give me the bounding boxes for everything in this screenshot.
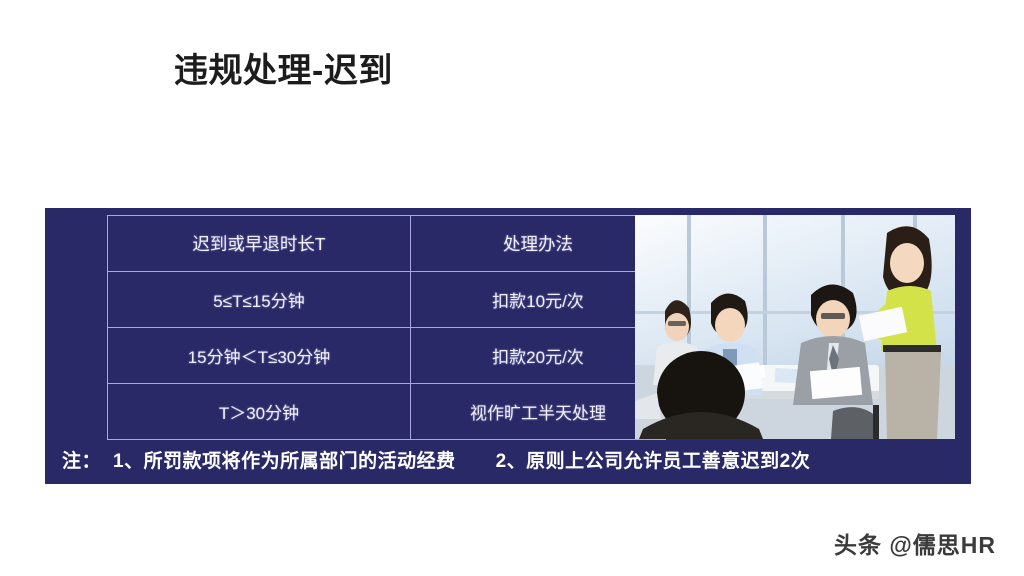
cell-action-3: 视作旷工半天处理 <box>411 384 666 440</box>
table-header-action: 处理办法 <box>411 216 666 272</box>
footer-note: 注：1、所罚款项将作为所属部门的活动经费2、原则上公司允许员工善意迟到2次 <box>62 446 962 473</box>
page-title: 违规处理-迟到 <box>174 50 393 93</box>
footer-note-item-1: 1、所罚款项将作为所属部门的活动经费 <box>113 451 456 472</box>
table-row: T＞30分钟 视作旷工半天处理 <box>108 384 666 440</box>
cell-action-2: 扣款20元/次 <box>411 328 666 384</box>
table-row: 5≤T≤15分钟 扣款10元/次 <box>108 272 666 328</box>
table-row: 15分钟＜T≤30分钟 扣款20元/次 <box>108 328 666 384</box>
cell-duration-1: 5≤T≤15分钟 <box>108 272 411 328</box>
content-panel: 迟到或早退时长T 处理办法 5≤T≤15分钟 扣款10元/次 15分钟＜T≤30… <box>45 208 971 484</box>
office-meeting-photo <box>635 215 955 439</box>
footer-note-label: 注： <box>62 451 101 472</box>
cell-duration-3: T＞30分钟 <box>108 384 411 440</box>
table-header-row: 迟到或早退时长T 处理办法 <box>108 216 666 272</box>
cell-duration-2: 15分钟＜T≤30分钟 <box>108 328 411 384</box>
footer-note-item-2: 2、原则上公司允许员工善意迟到2次 <box>496 451 811 472</box>
cell-action-1: 扣款10元/次 <box>411 272 666 328</box>
table-header-duration: 迟到或早退时长T <box>108 216 411 272</box>
watermark: 头条 @儒思HR <box>834 526 996 560</box>
rules-table: 迟到或早退时长T 处理办法 5≤T≤15分钟 扣款10元/次 15分钟＜T≤30… <box>107 215 666 440</box>
